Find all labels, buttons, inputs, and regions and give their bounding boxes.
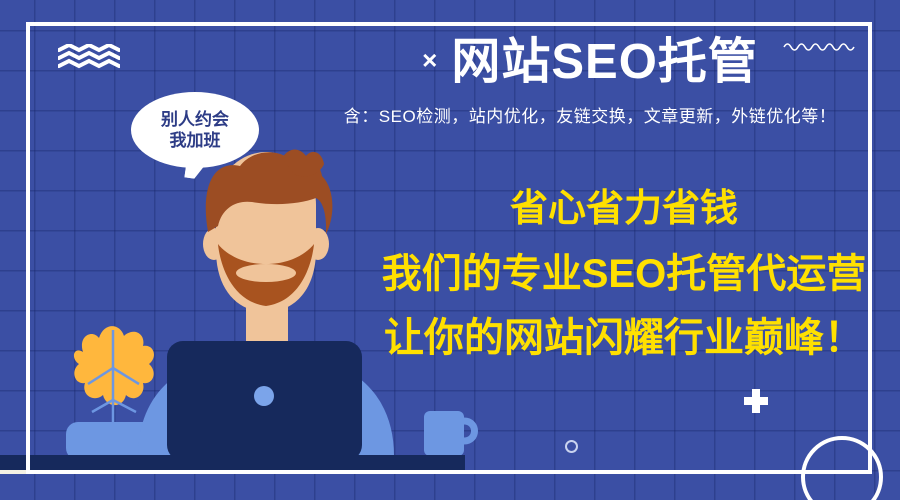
small-circle-decoration — [565, 440, 578, 453]
speech-bubble-line-1: 别人约会 — [161, 109, 229, 130]
page-title: 网站SEO托管 — [451, 36, 757, 90]
speech-bubble-line-2: 我加班 — [170, 130, 221, 151]
slogan-line-3: 让你的网站闪耀行业巅峰！ — [368, 318, 880, 358]
title-row: × 网站SEO托管 — [300, 36, 880, 90]
laptop-illustration — [167, 341, 362, 461]
slogan-line-2: 我们的专业SEO托管代运营 — [368, 254, 880, 294]
wave-zigzag-icon — [58, 44, 120, 70]
speech-bubble: 别人约会 我加班 — [131, 92, 259, 168]
desk-surface — [0, 455, 465, 471]
desk-edge-highlight — [0, 470, 482, 474]
slogan-line-1: 省心省力省钱 — [368, 190, 880, 228]
seo-hosting-poster: 别人约会 我加班 × 网站SEO托管 含：SEO检测，站内优化，友链交换，文章更… — [0, 0, 900, 500]
headline-block: × 网站SEO托管 含：SEO检测，站内优化，友链交换，文章更新，外链优化等！ — [300, 36, 880, 127]
page-subtitle: 含：SEO检测，站内优化，友链交换，文章更新，外链优化等！ — [300, 102, 880, 127]
plus-icon — [744, 389, 768, 413]
title-bullet-icon: × — [422, 47, 437, 79]
mug-illustration — [424, 411, 475, 456]
slogan-list: 省心省力省钱 我们的专业SEO托管代运营 让你的网站闪耀行业巅峰！ — [368, 190, 880, 358]
